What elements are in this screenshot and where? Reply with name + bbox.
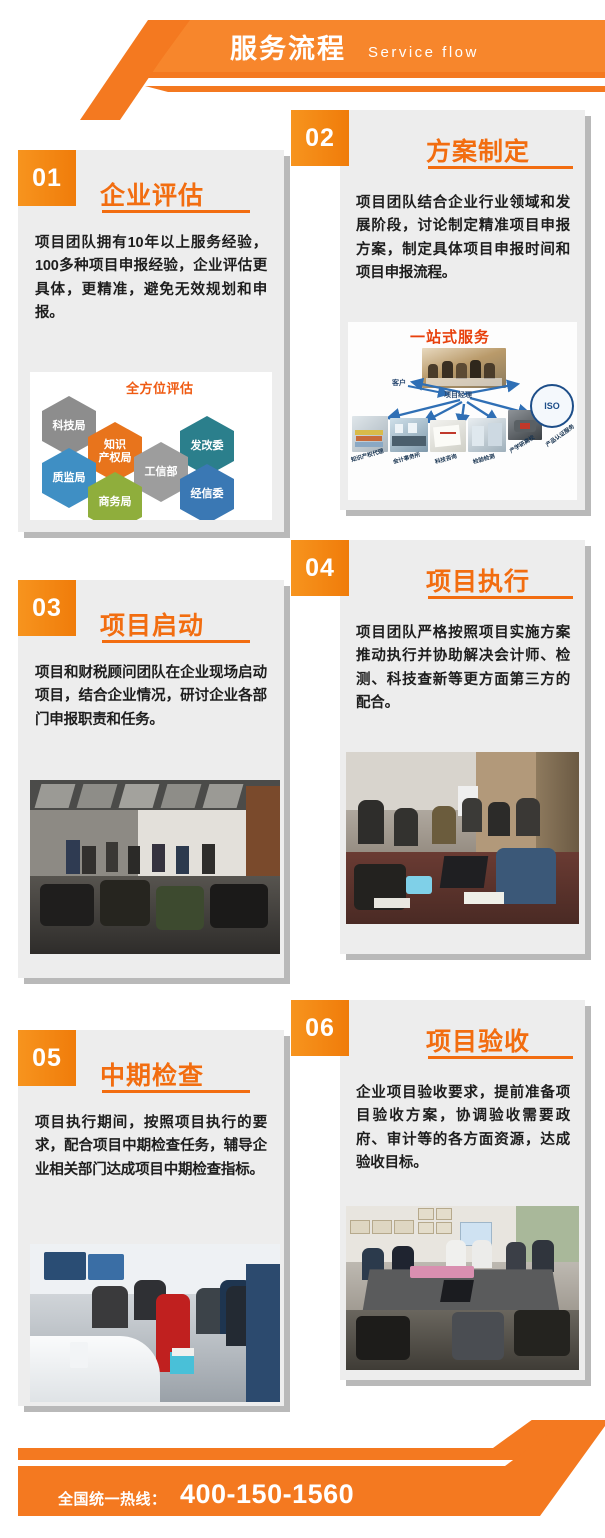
photo-workshop-04: [346, 752, 579, 924]
hex-node-label: 发改委: [191, 440, 224, 453]
oss-certification-seal: ISO: [530, 384, 574, 428]
oss-thumb-accounting: [390, 418, 428, 452]
card-title-01: 企业评估: [100, 176, 204, 212]
card-badge-02: 02: [291, 110, 349, 166]
title-rule-02: [428, 166, 573, 169]
hex-node-zhijianju: 质监局: [42, 448, 96, 508]
oss-node-customer: 客户: [392, 378, 406, 388]
card-badge-04: 04: [291, 540, 349, 596]
card-number-01: 01: [32, 164, 62, 193]
card-title-04: 项目执行: [426, 562, 530, 598]
oss-thumb-testing: [468, 418, 506, 452]
hex-node-label: 质监局: [53, 472, 86, 485]
service-flow-infographic: 服务流程 Service flow 企业评估 项目团队拥有10年以上服务经验，1…: [0, 0, 605, 1538]
hex-node-label: 商务局: [99, 496, 132, 509]
hotline-number[interactable]: 400-150-1560: [180, 1479, 354, 1510]
card-06[interactable]: 项目验收 企业项目验收要求，提前准备项目验收方案，协调验收需要政府、审计等的各方…: [340, 1000, 585, 1380]
card-body-06: 企业项目验收要求，提前准备项目验收方案，协调验收需要政府、审计等的各方面资源，达…: [356, 1082, 570, 1176]
photo-meeting-room-03: [30, 780, 280, 954]
card-title-05: 中期检查: [100, 1056, 204, 1092]
footer-banner: 全国统一热线： 400-150-1560: [0, 1420, 605, 1538]
title-rule-04: [428, 596, 573, 599]
card-number-04: 04: [305, 554, 335, 583]
title-rule-01: [102, 210, 250, 213]
seal-label: ISO: [544, 401, 560, 411]
card-badge-01: 01: [18, 150, 76, 206]
card-04[interactable]: 项目执行 项目团队严格按照项目实施方案推动执行并协助解决会计师、检测、科技查新等…: [340, 540, 585, 954]
card-badge-06: 06: [291, 1000, 349, 1056]
title-rule-05: [102, 1090, 250, 1093]
card-number-02: 02: [305, 124, 335, 153]
page-subtitle: Service flow: [368, 44, 479, 61]
card-title-02: 方案制定: [426, 132, 530, 168]
oss-thumb-consulting: [430, 420, 466, 452]
card-05[interactable]: 中期检查 项目执行期间，按照项目执行的要求，配合项目中期检查任务，辅导企业相关部…: [18, 1030, 284, 1406]
card-badge-05: 05: [18, 1030, 76, 1086]
hex-node-shangwuju: 商务局: [88, 472, 142, 520]
hex-node-label: 经信委: [191, 488, 224, 501]
card-title-03: 项目启动: [100, 606, 204, 642]
hotline-label: 全国统一热线：: [58, 1488, 167, 1509]
card-02[interactable]: 方案制定 项目团队结合企业行业领域和发展阶段，讨论制定精准项目申报方案，制定具体…: [340, 110, 585, 510]
card-badge-03: 03: [18, 580, 76, 636]
hex-diagram-title: 全方位评估: [126, 378, 194, 397]
card-body-04: 项目团队严格按照项目实施方案推动执行并协助解决会计师、检测、科技查新等更方面第三…: [356, 622, 570, 716]
hex-node-gongxinbu: 工信部: [134, 442, 188, 502]
photo-showroom-05: [30, 1244, 280, 1402]
header-banner: 服务流程 Service flow: [0, 0, 605, 120]
one-stop-service-diagram: 一站式服务: [348, 322, 577, 500]
title-rule-06: [428, 1056, 573, 1059]
card-body-03: 项目和财税顾问团队在企业现场启动项目，结合企业情况，研讨企业各部门申报职责和任务…: [35, 662, 267, 732]
card-number-05: 05: [32, 1044, 62, 1073]
hex-node-jingxinwei: 经信委: [180, 464, 234, 520]
oss-node-manager: 项目经理: [444, 390, 472, 400]
card-number-06: 06: [305, 1014, 335, 1043]
hex-diagram: 全方位评估 科技局 知识 产权局 发改委 质监局 工信部 经信委 商务局: [30, 372, 272, 520]
hex-node-kejiju: 科技局: [42, 396, 96, 456]
card-03[interactable]: 项目启动 项目和财税顾问团队在企业现场启动项目，结合企业情况，研讨企业各部门申报…: [18, 580, 284, 978]
hex-node-label: 工信部: [145, 466, 178, 479]
card-number-03: 03: [32, 594, 62, 623]
page-title: 服务流程: [230, 36, 346, 63]
card-body-02: 项目团队结合企业行业领域和发展阶段，讨论制定精准项目申报方案，制定具体项目申报时…: [356, 192, 570, 286]
card-body-01: 项目团队拥有10年以上服务经验，100多种项目申报经验，企业评估更具体，更精准，…: [35, 232, 267, 326]
card-01[interactable]: 企业评估 项目团队拥有10年以上服务经验，100多种项目申报经验，企业评估更具体…: [18, 150, 284, 532]
card-title-06: 项目验收: [426, 1022, 530, 1058]
oss-thumb-ip: [352, 416, 388, 452]
hex-node-label: 知识 产权局: [99, 439, 132, 464]
card-body-05: 项目执行期间，按照项目执行的要求，配合项目中期检查任务，辅导企业相关部门达成项目…: [35, 1112, 267, 1182]
photo-conference-06: [346, 1206, 579, 1370]
hex-node-label: 科技局: [53, 420, 86, 433]
title-rule-03: [102, 640, 250, 643]
